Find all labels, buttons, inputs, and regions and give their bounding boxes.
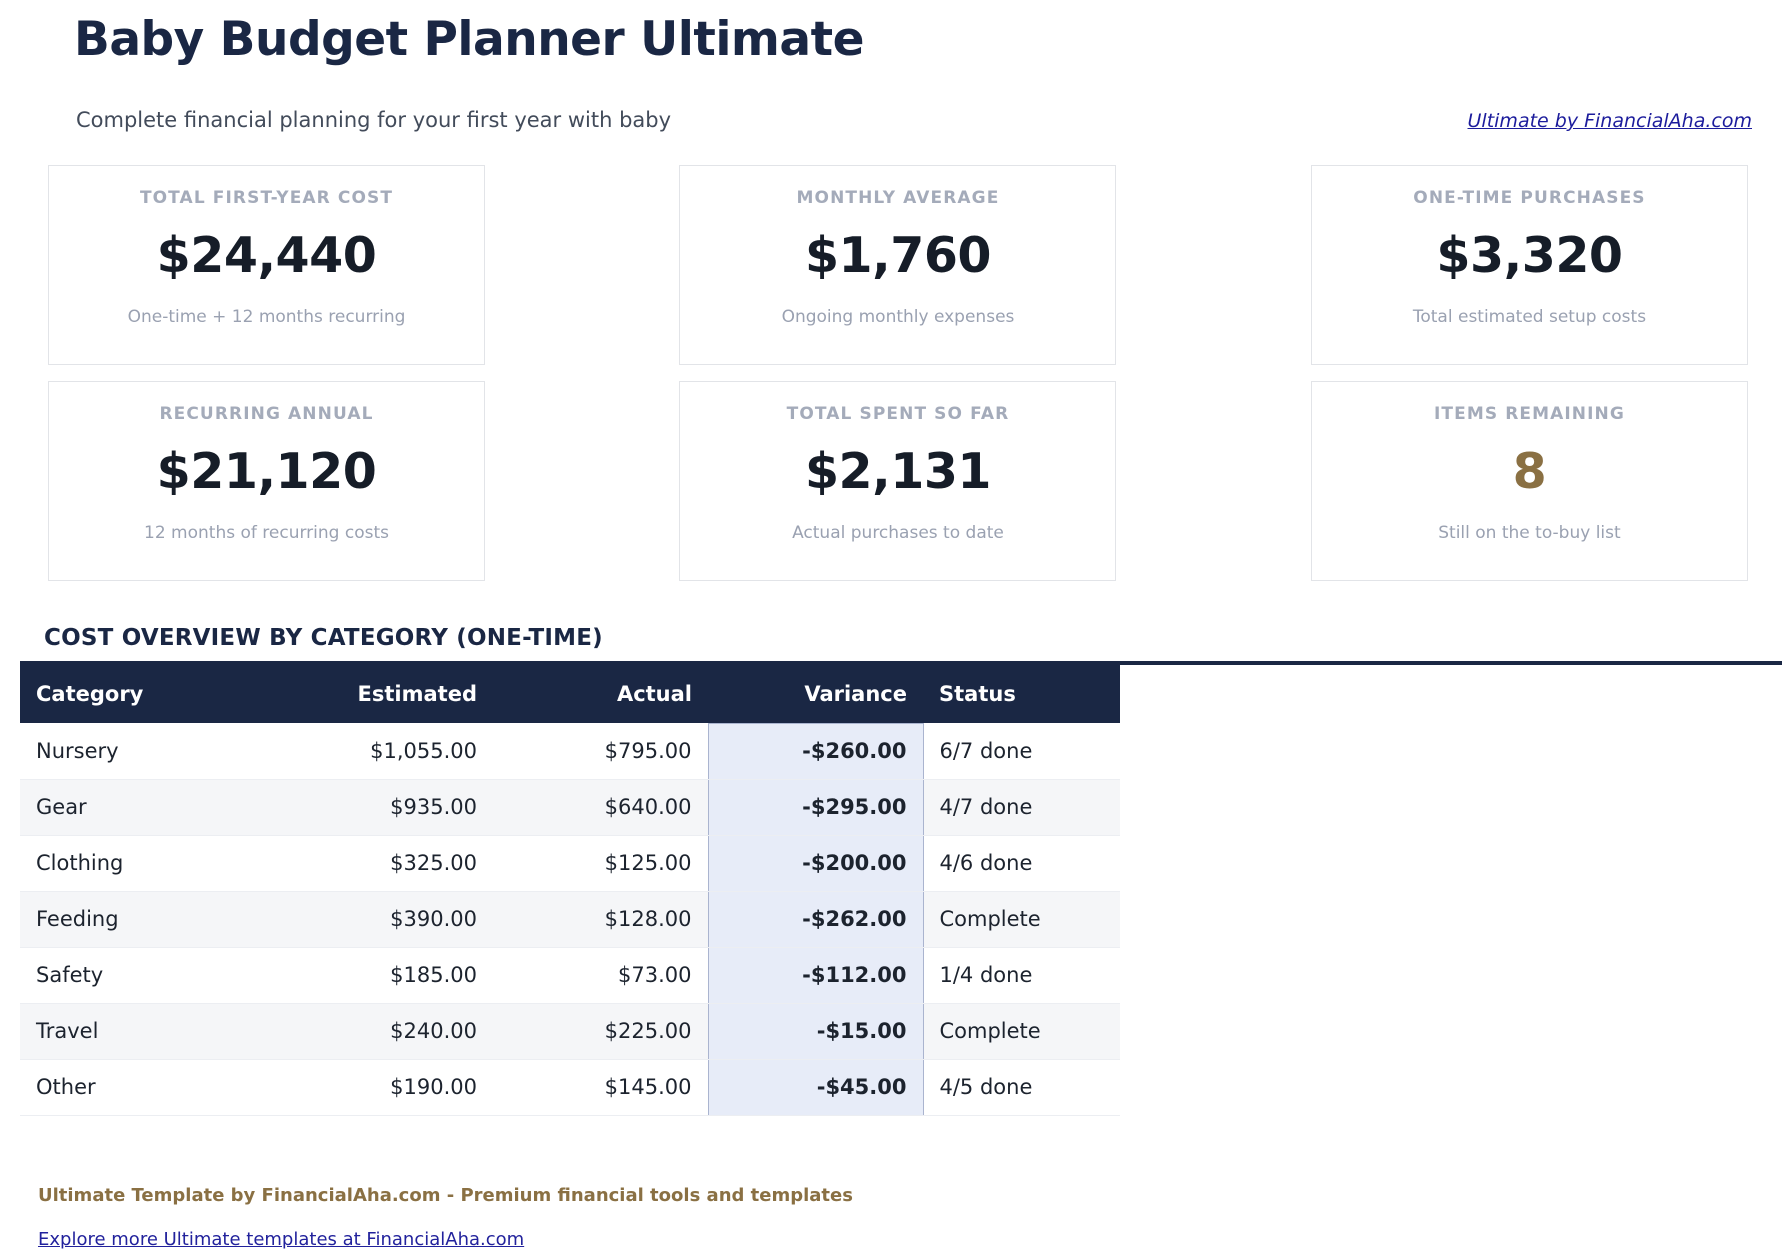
- stat-label: ITEMS REMAINING: [1434, 404, 1625, 424]
- table-row[interactable]: Other $190.00 $145.00 -$45.00 4/5 done: [20, 1059, 1120, 1115]
- stat-card-total-spent-so-far: TOTAL SPENT SO FAR $2,131 Actual purchas…: [679, 381, 1116, 581]
- stat-card-slot: TOTAL FIRST-YEAR COST $24,440 One-time +…: [48, 165, 615, 365]
- footer-note: Ultimate Template by FinancialAha.com - …: [38, 1185, 853, 1206]
- cost-table-container: Category Estimated Actual Variance Statu…: [20, 665, 1120, 1116]
- cell-variance: -$45.00: [708, 1059, 923, 1115]
- cell-category: Nursery: [20, 723, 275, 779]
- stat-value: $24,440: [157, 230, 377, 281]
- cell-estimated: $1,055.00: [275, 723, 493, 779]
- cell-status: Complete: [923, 891, 1120, 947]
- page-subtitle: Complete financial planning for your fir…: [76, 108, 671, 132]
- stat-label: ONE-TIME PURCHASES: [1413, 188, 1645, 208]
- cell-actual: $795.00: [493, 723, 708, 779]
- table-body: Nursery $1,055.00 $795.00 -$260.00 6/7 d…: [20, 723, 1120, 1115]
- stat-card-total-first-year-cost: TOTAL FIRST-YEAR COST $24,440 One-time +…: [48, 165, 485, 365]
- footer-link[interactable]: Explore more Ultimate templates at Finan…: [38, 1229, 524, 1250]
- stat-card-recurring-annual: RECURRING ANNUAL $21,120 12 months of re…: [48, 381, 485, 581]
- cell-actual: $128.00: [493, 891, 708, 947]
- cell-estimated: $240.00: [275, 1003, 493, 1059]
- cell-status: 4/5 done: [923, 1059, 1120, 1115]
- cell-variance: -$112.00: [708, 947, 923, 1003]
- cell-status: 4/6 done: [923, 835, 1120, 891]
- page-title: Baby Budget Planner Ultimate: [74, 12, 864, 67]
- table-row[interactable]: Feeding $390.00 $128.00 -$262.00 Complet…: [20, 891, 1120, 947]
- stat-card-slot: RECURRING ANNUAL $21,120 12 months of re…: [48, 381, 615, 581]
- column-header-actual[interactable]: Actual: [493, 665, 708, 723]
- stat-card-row-1: TOTAL FIRST-YEAR COST $24,440 One-time +…: [48, 165, 1748, 365]
- budget-planner-page: Baby Budget Planner Ultimate Complete fi…: [0, 0, 1782, 1253]
- stat-value: $1,760: [805, 230, 991, 281]
- cell-category: Other: [20, 1059, 275, 1115]
- stat-card-slot: ONE-TIME PURCHASES $3,320 Total estimate…: [1181, 165, 1748, 365]
- brand-link[interactable]: Ultimate by FinancialAha.com: [1468, 110, 1752, 132]
- stat-sublabel: Total estimated setup costs: [1413, 307, 1646, 327]
- stat-card-slot: MONTHLY AVERAGE $1,760 Ongoing monthly e…: [615, 165, 1182, 365]
- cell-category: Clothing: [20, 835, 275, 891]
- cell-variance: -$295.00: [708, 779, 923, 835]
- cell-estimated: $325.00: [275, 835, 493, 891]
- cell-actual: $125.00: [493, 835, 708, 891]
- cell-status: 6/7 done: [923, 723, 1120, 779]
- table-row[interactable]: Clothing $325.00 $125.00 -$200.00 4/6 do…: [20, 835, 1120, 891]
- cell-category: Gear: [20, 779, 275, 835]
- cell-estimated: $390.00: [275, 891, 493, 947]
- stat-label: TOTAL SPENT SO FAR: [787, 404, 1010, 424]
- stat-card-slot: ITEMS REMAINING 8 Still on the to-buy li…: [1181, 381, 1748, 581]
- stat-sublabel: Still on the to-buy list: [1438, 523, 1620, 543]
- stat-card-grid: TOTAL FIRST-YEAR COST $24,440 One-time +…: [48, 165, 1748, 597]
- stat-value: $3,320: [1436, 230, 1622, 281]
- cell-estimated: $185.00: [275, 947, 493, 1003]
- cell-estimated: $190.00: [275, 1059, 493, 1115]
- cell-actual: $73.00: [493, 947, 708, 1003]
- cell-variance: -$260.00: [708, 723, 923, 779]
- stat-label: RECURRING ANNUAL: [159, 404, 373, 424]
- cell-actual: $145.00: [493, 1059, 708, 1115]
- stat-card-row-2: RECURRING ANNUAL $21,120 12 months of re…: [48, 381, 1748, 581]
- cost-overview-table: Category Estimated Actual Variance Statu…: [20, 665, 1120, 1116]
- table-row[interactable]: Safety $185.00 $73.00 -$112.00 1/4 done: [20, 947, 1120, 1003]
- cell-variance: -$15.00: [708, 1003, 923, 1059]
- table-row[interactable]: Nursery $1,055.00 $795.00 -$260.00 6/7 d…: [20, 723, 1120, 779]
- stat-sublabel: Actual purchases to date: [792, 523, 1004, 543]
- stat-card-monthly-average: MONTHLY AVERAGE $1,760 Ongoing monthly e…: [679, 165, 1116, 365]
- cell-actual: $640.00: [493, 779, 708, 835]
- table-header-row: Category Estimated Actual Variance Statu…: [20, 665, 1120, 723]
- column-header-estimated[interactable]: Estimated: [275, 665, 493, 723]
- stat-value: $2,131: [805, 446, 991, 497]
- stat-card-one-time-purchases: ONE-TIME PURCHASES $3,320 Total estimate…: [1311, 165, 1748, 365]
- cell-variance: -$262.00: [708, 891, 923, 947]
- column-header-variance[interactable]: Variance: [708, 665, 923, 723]
- cell-category: Travel: [20, 1003, 275, 1059]
- cell-status: 4/7 done: [923, 779, 1120, 835]
- stat-sublabel: Ongoing monthly expenses: [782, 307, 1015, 327]
- cell-variance: -$200.00: [708, 835, 923, 891]
- stat-label: TOTAL FIRST-YEAR COST: [140, 188, 393, 208]
- cell-status: Complete: [923, 1003, 1120, 1059]
- stat-label: MONTHLY AVERAGE: [797, 188, 1000, 208]
- stat-value: $21,120: [157, 446, 377, 497]
- cell-actual: $225.00: [493, 1003, 708, 1059]
- stat-card-slot: TOTAL SPENT SO FAR $2,131 Actual purchas…: [615, 381, 1182, 581]
- table-row[interactable]: Travel $240.00 $225.00 -$15.00 Complete: [20, 1003, 1120, 1059]
- column-header-status[interactable]: Status: [923, 665, 1120, 723]
- stat-sublabel: One-time + 12 months recurring: [128, 307, 406, 327]
- stat-value: 8: [1513, 446, 1547, 497]
- table-row[interactable]: Gear $935.00 $640.00 -$295.00 4/7 done: [20, 779, 1120, 835]
- cell-status: 1/4 done: [923, 947, 1120, 1003]
- cell-estimated: $935.00: [275, 779, 493, 835]
- cell-category: Feeding: [20, 891, 275, 947]
- column-header-category[interactable]: Category: [20, 665, 275, 723]
- section-title-cost-overview: COST OVERVIEW BY CATEGORY (ONE-TIME): [44, 625, 603, 651]
- stat-sublabel: 12 months of recurring costs: [144, 523, 389, 543]
- cell-category: Safety: [20, 947, 275, 1003]
- stat-card-items-remaining: ITEMS REMAINING 8 Still on the to-buy li…: [1311, 381, 1748, 581]
- table-head: Category Estimated Actual Variance Statu…: [20, 665, 1120, 723]
